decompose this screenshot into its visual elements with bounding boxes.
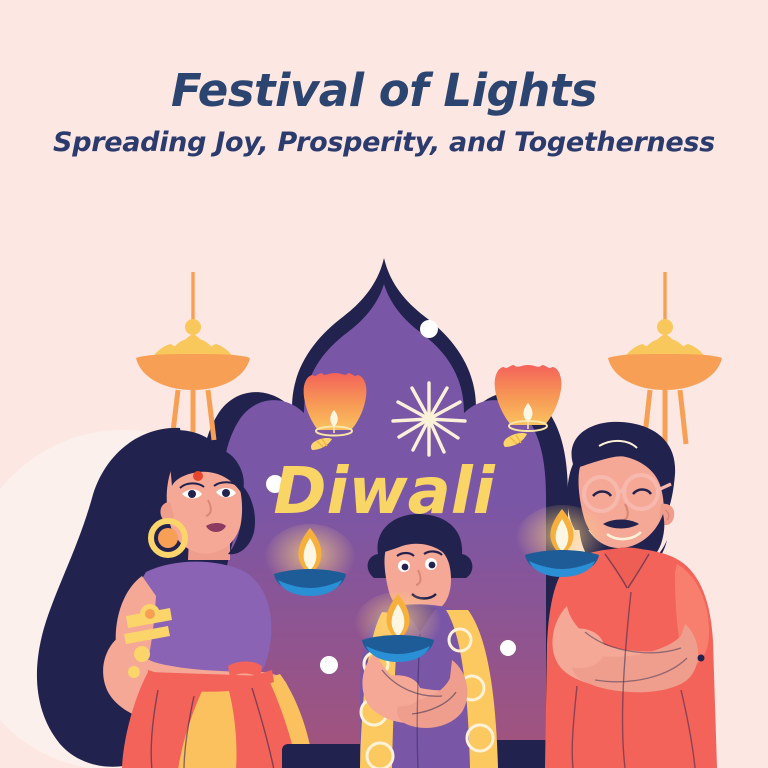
page-subtitle: Spreading Joy, Prosperity, and Togethern… bbox=[0, 116, 768, 158]
sparkle-firework bbox=[386, 376, 472, 462]
diya-lamp-boy bbox=[352, 592, 444, 676]
poster-header: Festival of Lights Spreading Joy, Prospe… bbox=[0, 0, 768, 157]
page-title: Festival of Lights bbox=[0, 0, 768, 116]
decor-dot bbox=[420, 320, 438, 338]
bindi-icon bbox=[193, 471, 203, 481]
diya-lamp-man bbox=[513, 505, 611, 593]
diwali-poster: Festival of Lights Spreading Joy, Prospe… bbox=[0, 0, 768, 768]
